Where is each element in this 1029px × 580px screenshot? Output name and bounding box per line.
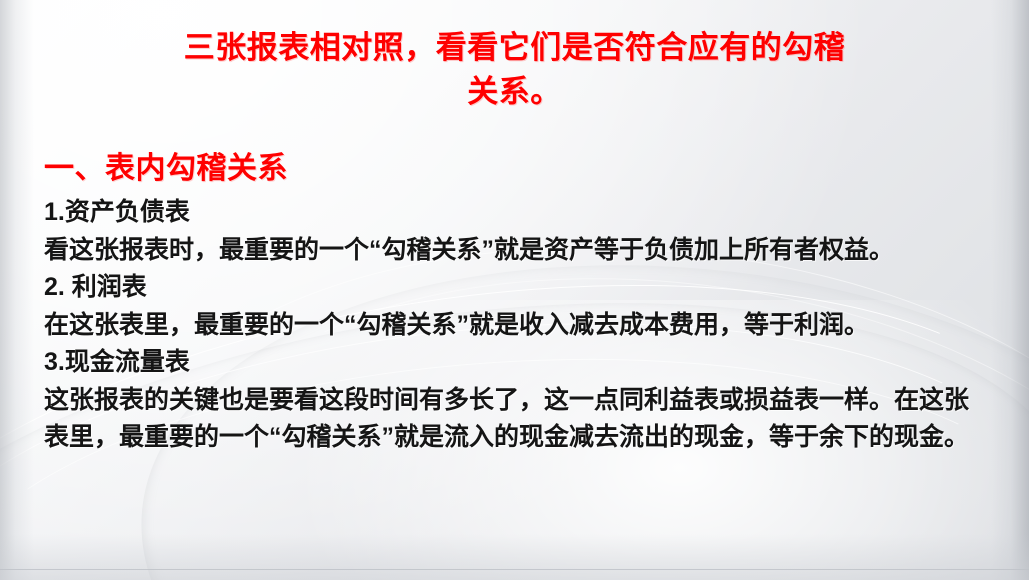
section-heading: 一、表内勾稽关系: [44, 150, 288, 188]
slide-content: 三张报表相对照，看看它们是否符合应有的勾稽 关系。 一、表内勾稽关系 1.资产负…: [0, 0, 1029, 580]
presentation-slide: 三张报表相对照，看看它们是否符合应有的勾稽 关系。 一、表内勾稽关系 1.资产负…: [0, 0, 1029, 580]
body-line: 在这张表里，最重要的一个“勾稽关系”就是收入减去成本费用，等于利润。: [44, 307, 974, 345]
body-line: 2. 利润表: [44, 269, 974, 307]
body-line: 看这张报表时，最重要的一个“勾稽关系”就是资产等于负债加上所有者权益。: [44, 232, 974, 270]
body-line: 3.现金流量表: [44, 344, 974, 382]
body-line: 这张报表的关键也是要看这段时间有多长了，这一点同利益表或损益表一样。在这张表里，…: [44, 382, 974, 457]
body-text-block: 1.资产负债表 看这张报表时，最重要的一个“勾稽关系”就是资产等于负债加上所有者…: [44, 194, 974, 457]
body-line: 1.资产负债表: [44, 194, 974, 232]
slide-title: 三张报表相对照，看看它们是否符合应有的勾稽 关系。: [0, 26, 1029, 114]
